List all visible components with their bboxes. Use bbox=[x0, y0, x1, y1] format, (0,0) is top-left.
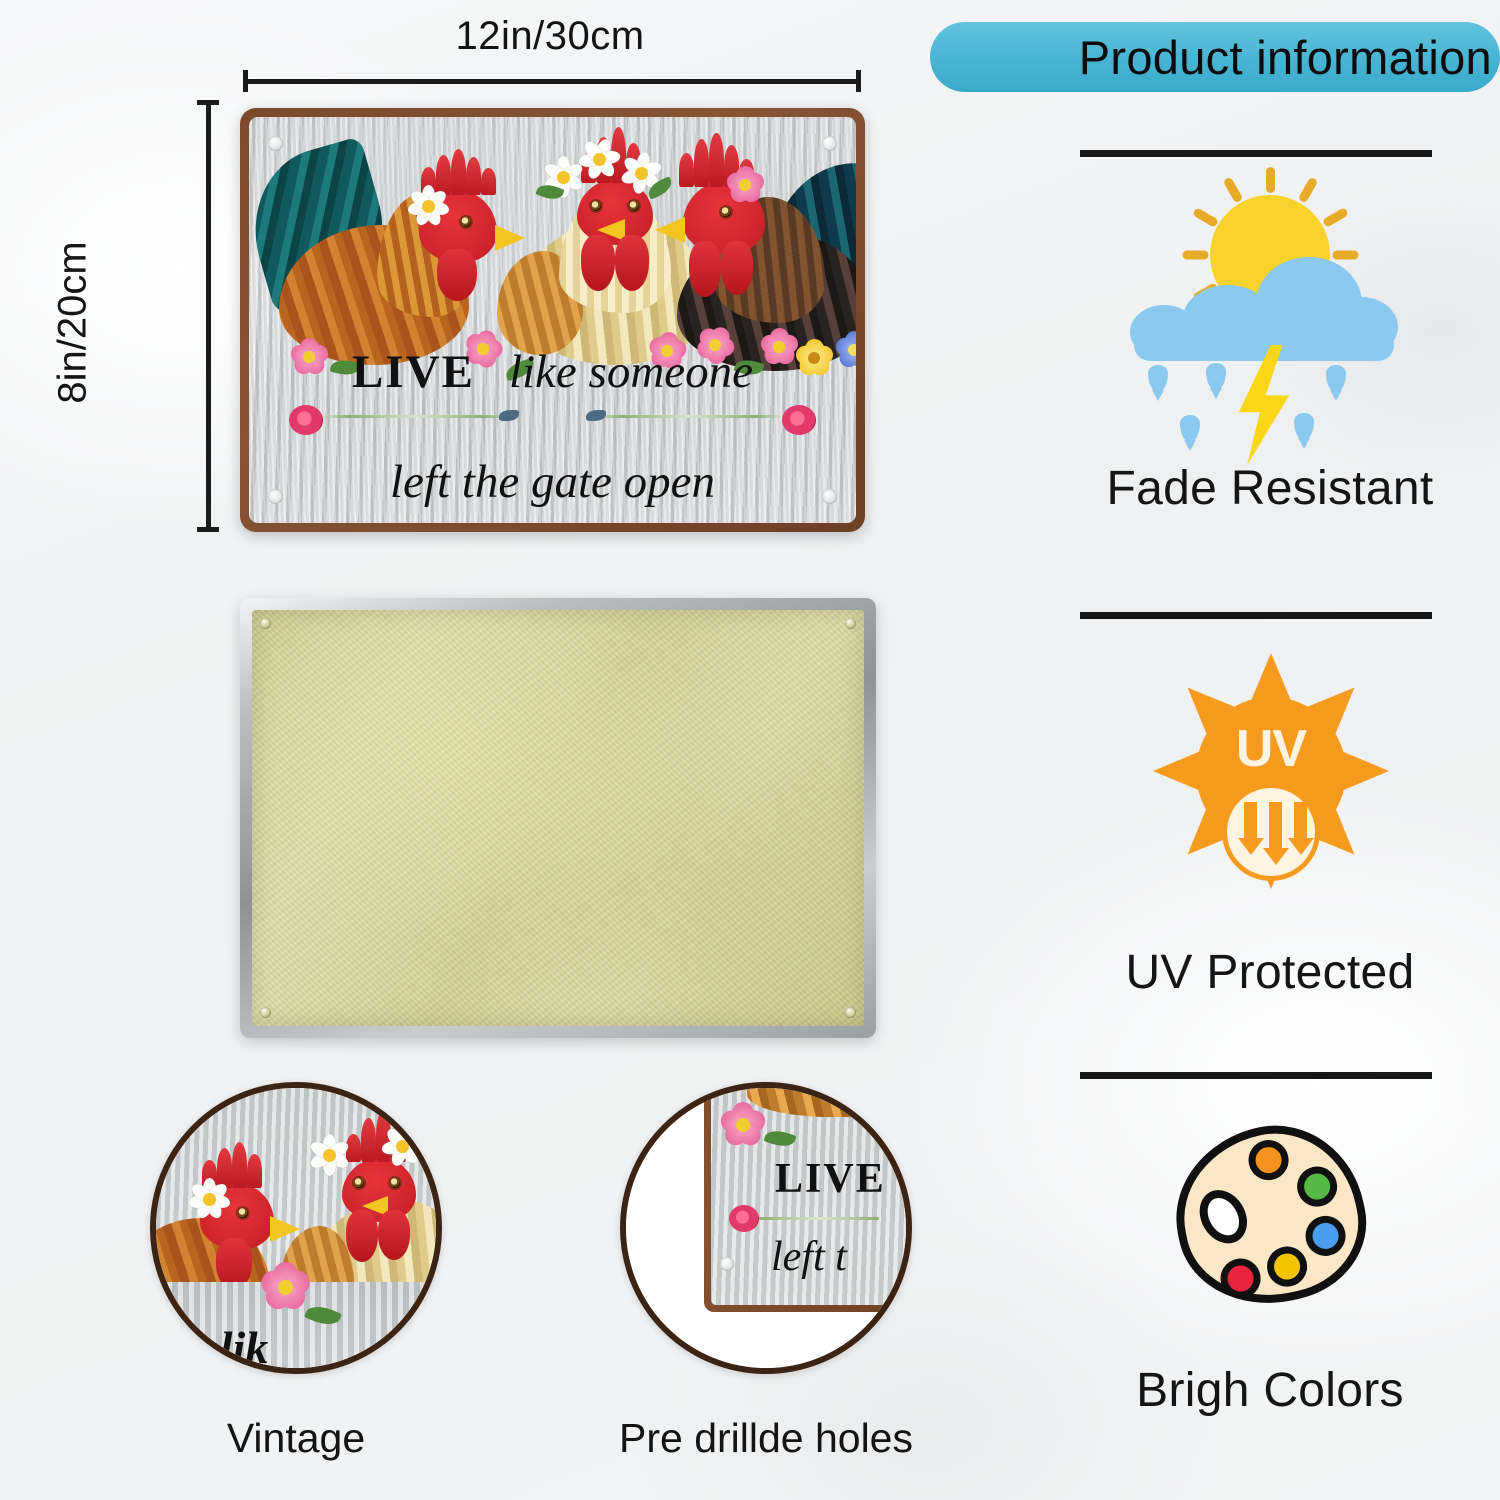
raindrop-4 bbox=[1180, 415, 1200, 442]
daisy-flower-brown bbox=[405, 183, 451, 229]
sign-text-block: LIVElike someone left the gate open bbox=[249, 345, 856, 509]
rooster-dark-eye bbox=[719, 205, 733, 219]
floral-divider bbox=[249, 403, 856, 429]
sun-cloud-rain-lightning-icon bbox=[1040, 157, 1500, 457]
vintage-zoom-content: E lik bbox=[156, 1088, 436, 1368]
product-sign-front[interactable]: LIVElike someone left the gate open bbox=[240, 108, 865, 532]
holes-pink-flower bbox=[717, 1099, 769, 1151]
back-screw-hole-bottom-right bbox=[845, 1007, 856, 1018]
holes-left-text: left t bbox=[771, 1233, 847, 1281]
sign-line-2: left the gate open bbox=[249, 455, 856, 509]
screw-hole-bottom-right bbox=[822, 489, 837, 504]
palette-dot-blue bbox=[1302, 1212, 1349, 1259]
feature-fade-resistant: Fade Resistant bbox=[1040, 150, 1500, 516]
caption-vintage: Vintage bbox=[150, 1415, 442, 1462]
screw-hole-top-left bbox=[268, 136, 283, 151]
vintage-right-eye-r bbox=[388, 1176, 402, 1190]
uv-badge-text: UV bbox=[1196, 719, 1346, 779]
feature-label-fade: Fade Resistant bbox=[1040, 461, 1500, 516]
vintage-left-daisy bbox=[186, 1176, 232, 1222]
detail-circle-vintage[interactable]: E lik bbox=[150, 1082, 442, 1374]
product-information-banner: Product information bbox=[930, 22, 1500, 92]
uv-sun-shield-icon: UV bbox=[1040, 619, 1500, 919]
holes-rose bbox=[729, 1205, 759, 1232]
palette-dot-yellow bbox=[1263, 1243, 1310, 1290]
sign-word-live: LIVE bbox=[352, 346, 475, 398]
width-dimension-bar bbox=[243, 70, 861, 92]
bud-right bbox=[586, 410, 606, 421]
palette-dot-green bbox=[1293, 1163, 1340, 1210]
palette-dot-red bbox=[1217, 1255, 1264, 1302]
vintage-right-blossom-a bbox=[310, 1136, 348, 1174]
vine-right bbox=[594, 415, 784, 418]
rooster-brown-wattle bbox=[437, 249, 477, 301]
raindrop-1 bbox=[1148, 365, 1168, 392]
back-screw-hole-bottom-left bbox=[260, 1007, 271, 1018]
uv-down-arrow-1 bbox=[1244, 802, 1257, 840]
product-information-label: Product information bbox=[1079, 30, 1492, 85]
feature-label-colors: Brigh Colors bbox=[1040, 1363, 1500, 1418]
dimension-cap-bottom bbox=[197, 527, 219, 532]
paint-palette-icon bbox=[1040, 1079, 1500, 1359]
pink-flower-crown bbox=[723, 163, 767, 207]
rooster-cream-eye-right bbox=[627, 199, 641, 213]
blossom-crown-mid bbox=[581, 141, 617, 177]
feature-uv-protected: UV UV Protected bbox=[1040, 612, 1500, 1000]
height-dimension-label: 8in/20cm bbox=[51, 208, 96, 438]
vintage-right-blossom-b bbox=[384, 1128, 420, 1164]
vintage-right-eye-l bbox=[352, 1176, 366, 1190]
lightning-bolt-icon bbox=[1222, 345, 1306, 465]
sign-face: LIVElike someone left the gate open bbox=[249, 117, 856, 523]
rooster-dark-wattle-right bbox=[721, 241, 753, 295]
rose-right bbox=[782, 405, 816, 435]
feature-divider-1 bbox=[1080, 150, 1432, 157]
raindrop-2 bbox=[1206, 363, 1226, 390]
bud-left bbox=[499, 410, 519, 421]
detail-circle-pre-drilled-holes[interactable]: LIVE left t bbox=[620, 1082, 912, 1374]
feature-divider-2 bbox=[1080, 612, 1432, 619]
vintage-right-wattle-l bbox=[346, 1210, 378, 1262]
dimension-cap-right bbox=[856, 70, 861, 92]
holes-vine bbox=[759, 1217, 879, 1220]
back-screw-hole-top-left bbox=[260, 618, 271, 629]
pre-drilled-hole-highlight bbox=[720, 1257, 734, 1271]
screw-hole-top-right bbox=[822, 136, 837, 151]
vintage-right-wattle-r bbox=[378, 1210, 410, 1260]
vine-left bbox=[321, 415, 511, 418]
uv-arrow-circle bbox=[1222, 783, 1320, 881]
rose-left bbox=[289, 405, 323, 435]
holes-feathers bbox=[747, 1082, 912, 1117]
sign-phrase-like-someone: like someone bbox=[509, 346, 753, 398]
uv-down-arrow-2 bbox=[1269, 802, 1282, 850]
rooster-dark-beak bbox=[655, 217, 685, 243]
caption-pre-drilled-holes: Pre drillde holes bbox=[600, 1415, 932, 1462]
sign-corner-face: LIVE left t bbox=[711, 1082, 912, 1305]
palette-group bbox=[1176, 1127, 1376, 1317]
rooster-cream-eye-left bbox=[589, 199, 603, 213]
holes-live-text: LIVE bbox=[775, 1155, 886, 1203]
height-dimension-bar bbox=[197, 100, 219, 532]
dimension-line-vertical bbox=[206, 100, 211, 532]
feature-bright-colors: Brigh Colors bbox=[1040, 1072, 1500, 1418]
rooster-cream-wattle-left bbox=[581, 235, 615, 291]
gold-metal-surface bbox=[252, 610, 864, 1026]
uv-sun-group: UV bbox=[1196, 655, 1346, 891]
sign-corner-fragment: LIVE left t bbox=[704, 1082, 912, 1312]
rooster-dark-wattle-left bbox=[689, 241, 721, 297]
back-screw-hole-top-right bbox=[845, 618, 856, 629]
palette-body bbox=[1160, 1109, 1380, 1320]
vintage-pink-flower bbox=[256, 1258, 314, 1316]
product-sign-back-gold[interactable] bbox=[240, 598, 876, 1038]
uv-down-arrow-3 bbox=[1294, 802, 1307, 840]
cloud-group bbox=[1124, 263, 1404, 363]
rooster-cream-wattle-right bbox=[615, 235, 649, 291]
feature-divider-3 bbox=[1080, 1072, 1432, 1079]
screw-hole-bottom-left bbox=[268, 489, 283, 504]
vintage-partial-text: E lik bbox=[166, 1321, 442, 1374]
rooster-brown-eye bbox=[459, 215, 473, 229]
palette-thumb-hole bbox=[1190, 1181, 1256, 1251]
feature-label-uv: UV Protected bbox=[1040, 945, 1500, 1000]
raindrop-3 bbox=[1326, 365, 1346, 392]
sign-line-1: LIVElike someone bbox=[249, 345, 856, 399]
raindrop-5 bbox=[1294, 413, 1314, 440]
dimension-line-horizontal bbox=[243, 79, 861, 84]
vintage-left-eye bbox=[236, 1206, 250, 1220]
palette-dot-orange bbox=[1245, 1136, 1292, 1183]
right-feature-column: Product information bbox=[1040, 0, 1500, 1500]
holes-zoom-content: LIVE left t bbox=[626, 1088, 906, 1368]
width-dimension-label: 12in/30cm bbox=[240, 14, 860, 59]
rooster-illustration-band bbox=[249, 123, 856, 373]
